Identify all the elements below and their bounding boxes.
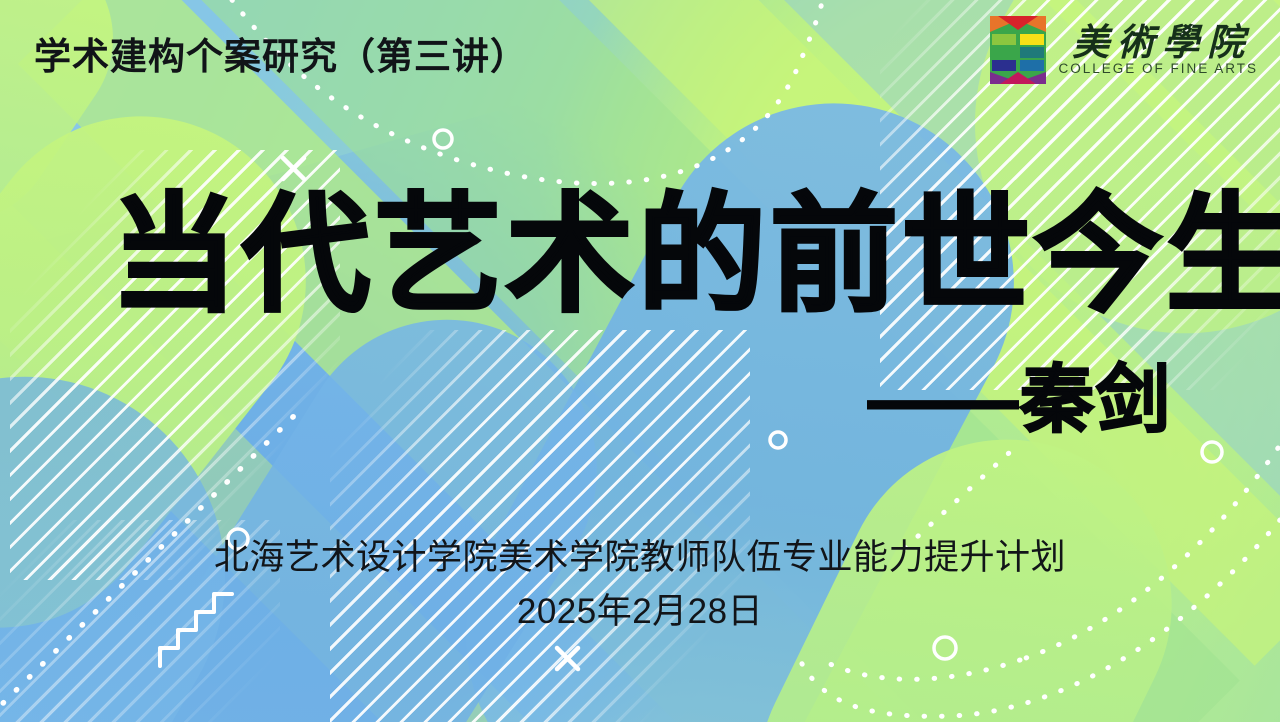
college-logo-mark-icon — [990, 16, 1046, 84]
college-name-cn: 美術學院 — [1064, 24, 1252, 61]
college-logo-wordmark: 美術學院 COLLEGE OF FINE ARTS — [1058, 24, 1258, 76]
kicker-text: 学术建构个案研究（第三讲） — [34, 26, 528, 80]
slide-footer: 北海艺术设计学院美术学院教师队伍专业能力提升计划 2025年2月28日 — [0, 536, 1280, 634]
footer-date: 2025年2月28日 — [0, 590, 1280, 634]
college-logo: 美術學院 COLLEGE OF FINE ARTS — [990, 16, 1258, 84]
slide-content: 学术建构个案研究（第三讲） 美術學院 — [0, 0, 1280, 722]
college-name-en: COLLEGE OF FINE ARTS — [1058, 62, 1258, 76]
presentation-title-slide: 学术建构个案研究（第三讲） 美術學院 — [0, 0, 1280, 722]
footer-organization: 北海艺术设计学院美术学院教师队伍专业能力提升计划 — [0, 536, 1280, 580]
main-title: 当代艺术的前世今生 — [110, 188, 1280, 324]
author-byline: ——秦剑 — [868, 340, 1172, 447]
